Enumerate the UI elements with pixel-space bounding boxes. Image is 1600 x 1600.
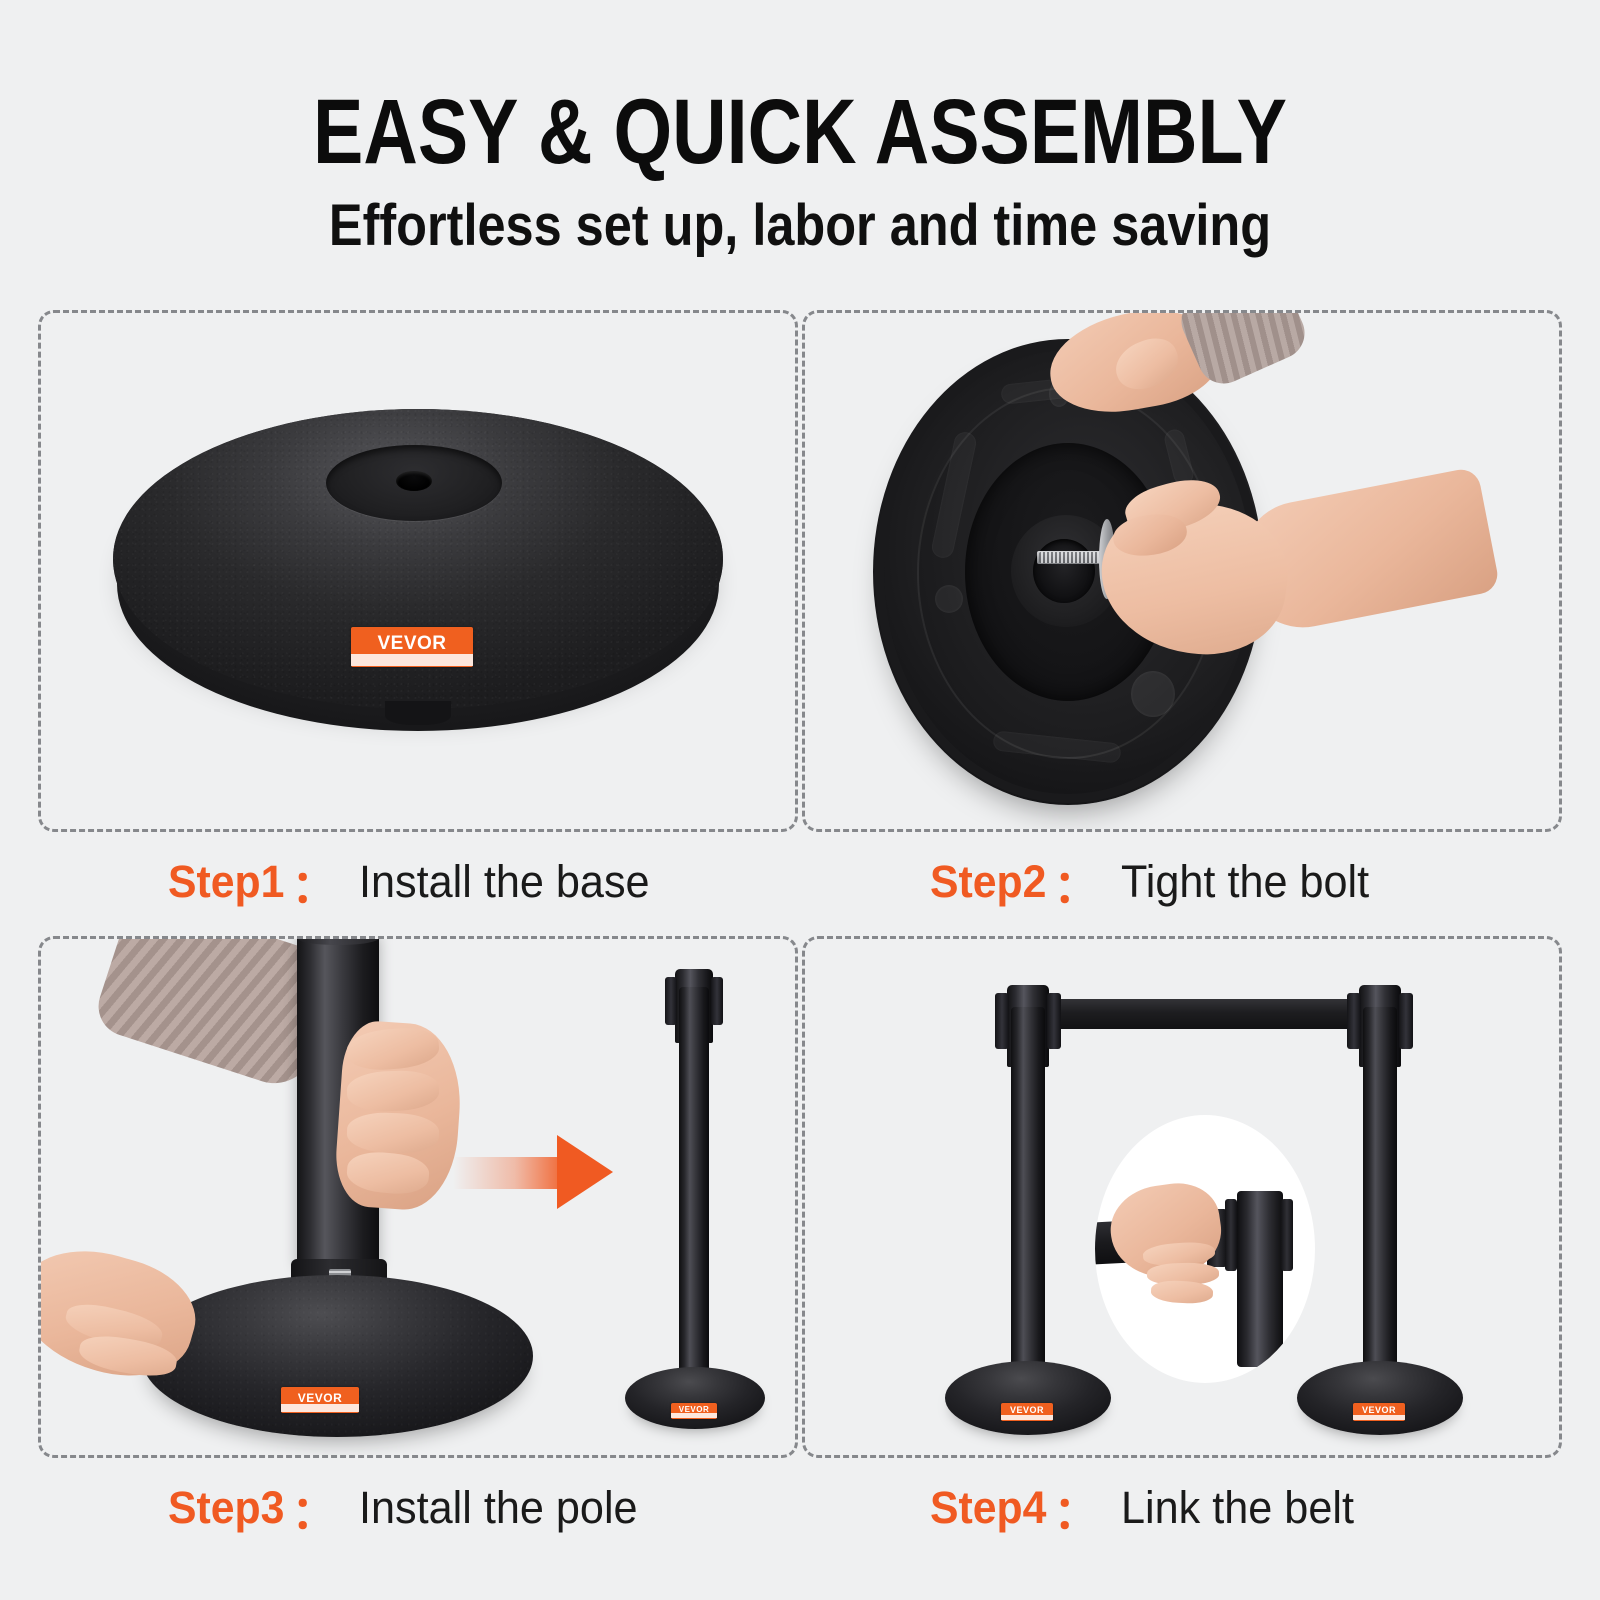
step-3-tag: Step3 (168, 1482, 284, 1534)
stanchion-pole (679, 987, 709, 1391)
vevor-label-subtext-bar (1001, 1415, 1053, 1420)
vevor-brand-label: VEVOR (1353, 1403, 1405, 1421)
inset-belt-clip-right (1281, 1199, 1293, 1271)
step-4-caption: Step4 ： Link the belt (930, 1478, 1363, 1538)
vevor-label-text: VEVOR (298, 1392, 343, 1404)
belt-linking-illustration: VEVOR VEVOR (805, 939, 1559, 1455)
belt-clip-right (1047, 993, 1061, 1049)
step-panel-2 (802, 310, 1562, 832)
step-1-description: Install the base (359, 856, 650, 908)
belt-clip-right (1399, 993, 1413, 1049)
stanchion-base (625, 1367, 765, 1429)
belt-clip-detail-inset (1095, 1115, 1315, 1383)
infographic-page: EASY & QUICK ASSEMBLY Effortless set up,… (0, 0, 1600, 1600)
header: EASY & QUICK ASSEMBLY Effortless set up,… (0, 86, 1600, 257)
vevor-label-subtext-bar (281, 1404, 359, 1412)
belt-clip-left (1347, 993, 1361, 1049)
base-moulding-dot (935, 585, 963, 613)
belt-clip-left (665, 977, 677, 1025)
step-4-colon: ： (1054, 1476, 1099, 1541)
step-4-tag: Step4 (930, 1482, 1046, 1534)
stanchion-base (1297, 1361, 1463, 1435)
belt-clip-right (711, 977, 723, 1025)
step-panel-1: VEVOR (38, 310, 798, 832)
hand-holding-base (1019, 310, 1259, 431)
inset-hand-attaching-belt (1111, 1185, 1241, 1315)
stanchion-pole (1011, 1007, 1045, 1383)
step-3-description: Install the pole (359, 1482, 638, 1534)
step-3-colon: ： (292, 1476, 337, 1541)
arrow-tail (453, 1157, 565, 1189)
step-4-description: Link the belt (1121, 1482, 1354, 1534)
vevor-brand-label: VEVOR (351, 627, 473, 667)
step-3-caption: Step3 ： Install the pole (168, 1478, 649, 1538)
step-2-tag: Step2 (930, 856, 1046, 908)
step-2-description: Tight the bolt (1121, 856, 1369, 908)
page-title: EASY & QUICK ASSEMBLY (144, 86, 1456, 178)
vevor-label-subtext-bar (351, 654, 473, 666)
step-2-colon: ： (1054, 850, 1099, 915)
vevor-brand-label: VEVOR (1001, 1403, 1053, 1421)
pole-cap (297, 936, 379, 945)
step-1-tag: Step1 (168, 856, 284, 908)
step-panel-3: VEVOR (38, 936, 798, 1458)
vevor-label-text: VEVOR (377, 634, 446, 653)
stanchion-base (945, 1361, 1111, 1435)
bolt-installation-illustration (805, 313, 1559, 829)
product-base-illustration: VEVOR (113, 409, 723, 739)
step-1-caption: Step1 ： Install the base (168, 852, 661, 912)
stanchion-pole (1363, 1007, 1397, 1383)
base-bolt-hole (396, 471, 432, 491)
arrow-right-icon (453, 1135, 613, 1209)
page-subtitle: Effortless set up, labor and time saving (104, 196, 1496, 257)
hand-steadying-base (38, 1235, 247, 1395)
arrow-tip (557, 1135, 613, 1209)
step-panel-4: VEVOR VEVOR (802, 936, 1562, 1458)
base-foot (385, 701, 451, 725)
vevor-label-subtext-bar (671, 1413, 717, 1418)
assembled-stanchion: VEVOR (611, 959, 781, 1437)
step-2-caption: Step2 ： Tight the bolt (930, 852, 1379, 912)
belt-clip-left (995, 993, 1009, 1049)
vevor-brand-label: VEVOR (281, 1387, 359, 1413)
vevor-label-subtext-bar (1353, 1415, 1405, 1420)
inset-stanchion-head (1237, 1191, 1283, 1367)
step-1-colon: ： (292, 850, 337, 915)
hand-holding-bolt (1073, 481, 1473, 701)
vevor-brand-label: VEVOR (671, 1403, 717, 1419)
pole-installation-illustration: VEVOR (41, 939, 795, 1455)
